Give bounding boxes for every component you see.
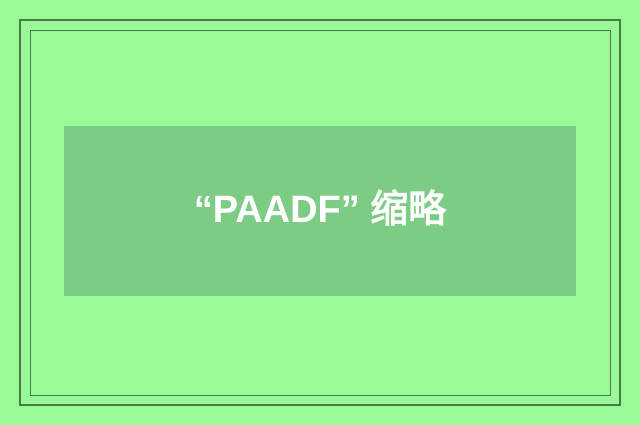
poster-canvas: “PAADF” 缩略	[0, 0, 640, 425]
title-panel: “PAADF” 缩略	[64, 126, 576, 296]
poster-title: “PAADF” 缩略	[194, 190, 447, 232]
